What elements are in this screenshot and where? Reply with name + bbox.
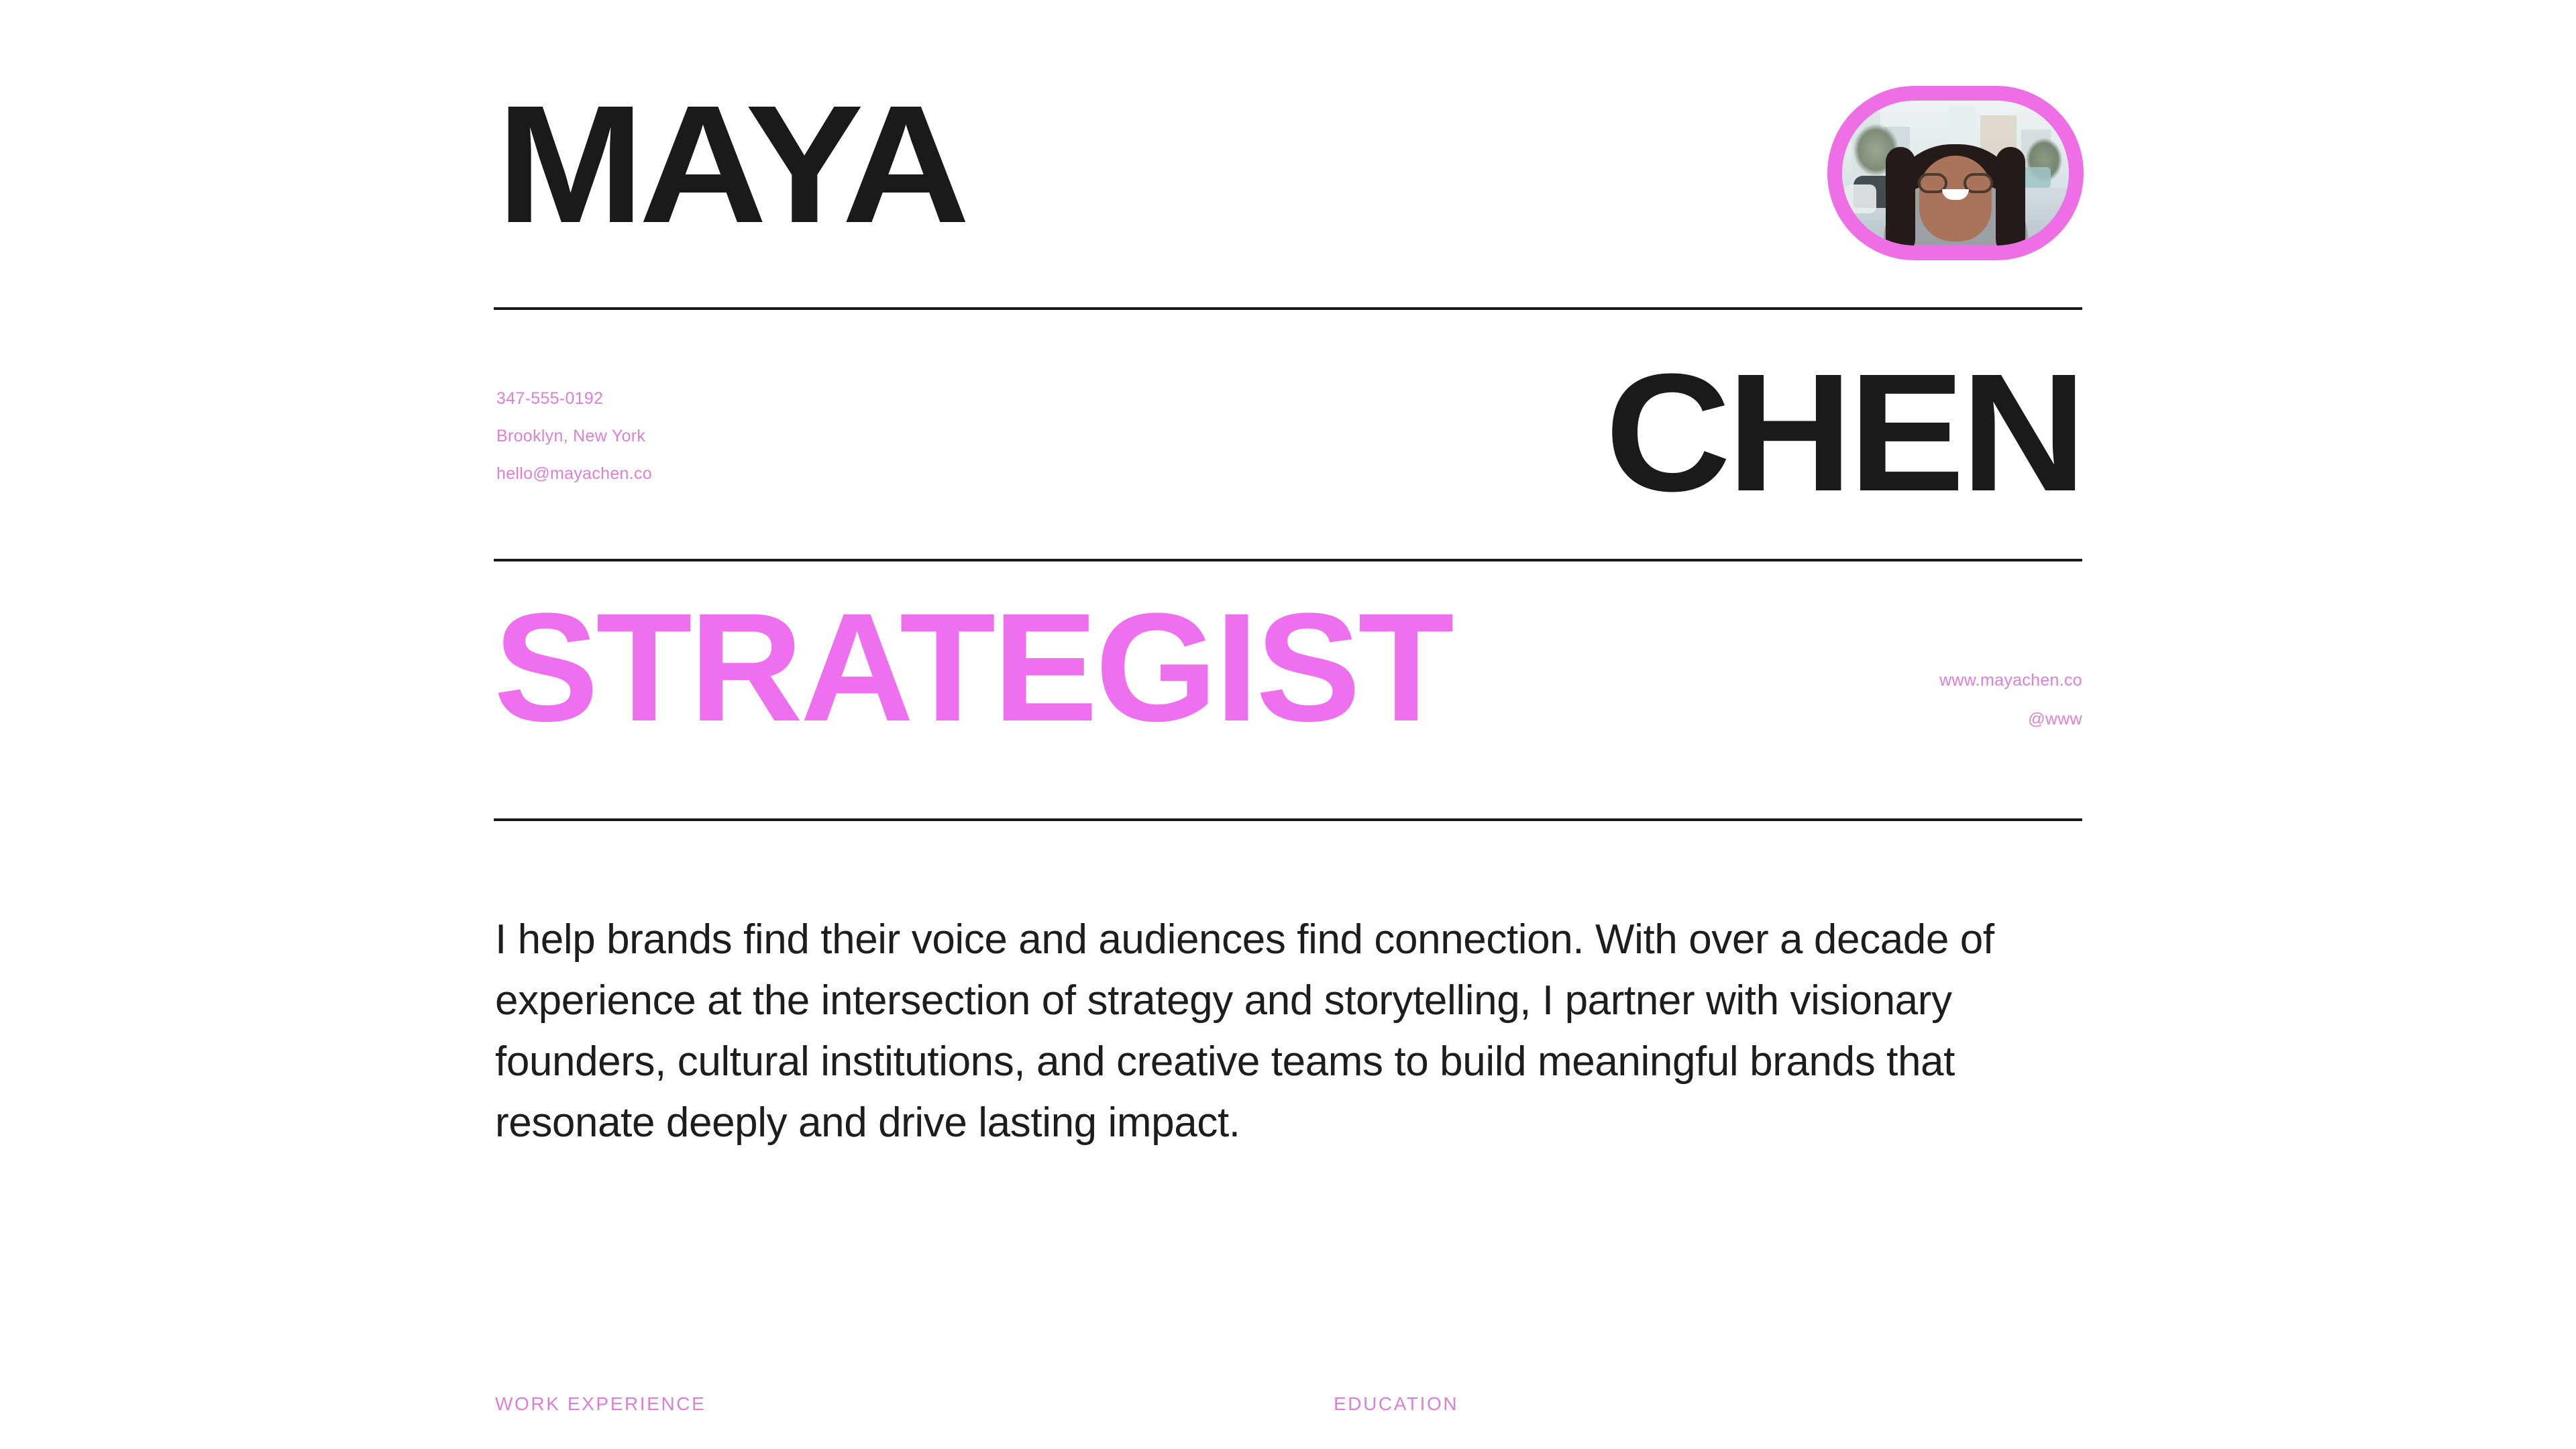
section-heading-education: EDUCATION [1334, 1393, 1458, 1415]
contact-details: 347-555-0192 Brooklyn, New York hello@ma… [496, 380, 652, 492]
link-website[interactable]: www.mayachen.co [1939, 661, 2082, 700]
avatar [1827, 86, 2084, 260]
contact-phone[interactable]: 347-555-0192 [496, 380, 652, 417]
divider-rule-top [494, 307, 2082, 310]
section-heading-work-experience: WORK EXPERIENCE [495, 1393, 706, 1415]
role-title: STRATEGIST [494, 590, 1452, 745]
page-title-first-name: MAYA [496, 80, 965, 248]
divider-rule-middle [494, 559, 2082, 561]
page-title-last-name: CHEN [1605, 349, 2082, 517]
photo-portrait-hair-strand [1886, 147, 1915, 246]
web-links: www.mayachen.co @www [1939, 661, 2082, 739]
photo-portrait-hair-strand [1996, 147, 2025, 246]
bio-paragraph: I help brands find their voice and audie… [495, 909, 2092, 1153]
resume-page: MAYA 347-555-0192 [0, 0, 2576, 1449]
contact-location: Brooklyn, New York [496, 417, 652, 455]
divider-rule-bottom [494, 818, 2082, 821]
link-handle[interactable]: @www [1939, 700, 2082, 739]
avatar-photo [1842, 101, 2069, 246]
photo-car [1844, 184, 1876, 213]
contact-email[interactable]: hello@mayachen.co [496, 455, 652, 492]
